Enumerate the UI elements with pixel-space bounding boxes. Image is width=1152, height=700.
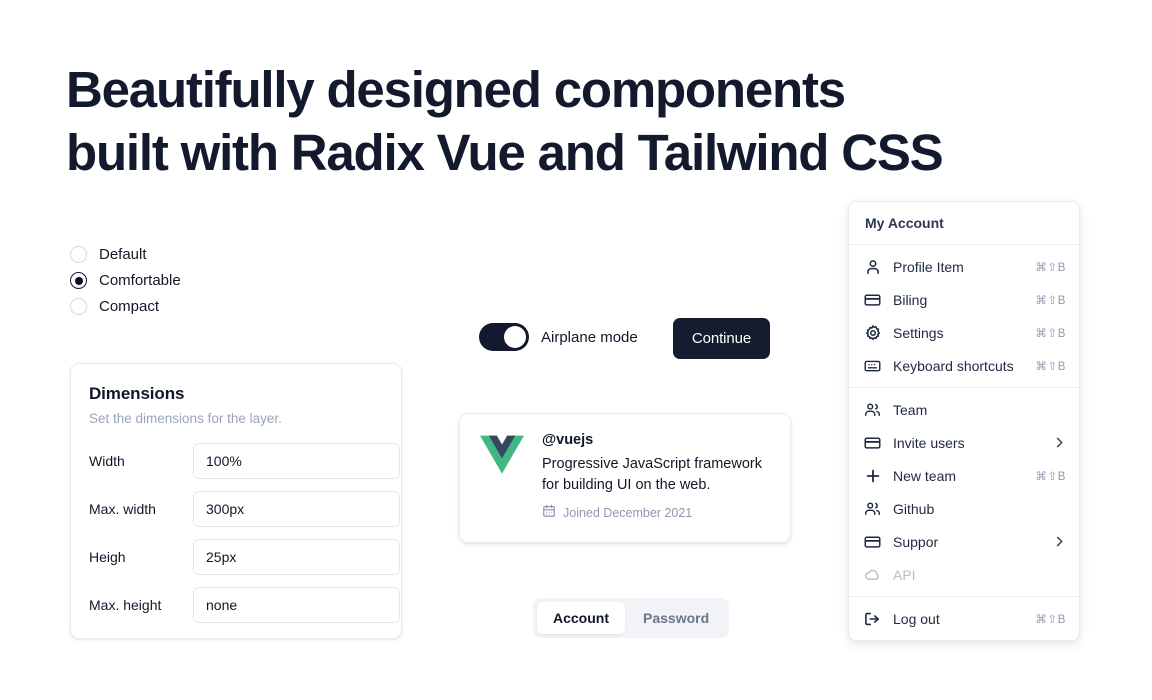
menu-group: TeamInvite usersNew team⌘⇧BGithubSupporA… xyxy=(849,388,1079,596)
dimension-label: Heigh xyxy=(89,549,193,565)
menu-group-list: Profile Item⌘⇧BBiling⌘⇧BSettings⌘⇧BKeybo… xyxy=(849,245,1079,640)
hover-card-body: @vuejs Progressive JavaScript framework … xyxy=(542,432,770,524)
dimension-label: Max. width xyxy=(89,501,193,517)
dimension-row: Max. width xyxy=(89,491,383,527)
radio-label: Default xyxy=(99,246,147,263)
dimensions-card-title: Dimensions xyxy=(89,384,383,404)
plus-icon xyxy=(864,467,881,484)
dimension-label: Width xyxy=(89,453,193,469)
page-root: Beautifully designed components built wi… xyxy=(0,0,1152,700)
airplane-mode-switch[interactable] xyxy=(479,323,529,351)
menu-item-shortcut: ⌘⇧B xyxy=(1035,326,1066,340)
dimension-input-width[interactable] xyxy=(193,443,400,479)
radio-option-compact[interactable]: Compact xyxy=(70,298,181,315)
vuejs-hover-card: @vuejs Progressive JavaScript framework … xyxy=(459,413,791,543)
menu-label: My Account xyxy=(849,202,1079,244)
menu-item-github[interactable]: Github xyxy=(849,492,1079,525)
radio-label: Comfortable xyxy=(99,272,181,289)
density-radio-group[interactable]: DefaultComfortableCompact xyxy=(70,246,181,315)
menu-item-label: Log out xyxy=(893,611,1023,627)
menu-item-label: Suppor xyxy=(893,534,1041,550)
dimensions-card-subtitle: Set the dimensions for the layer. xyxy=(89,411,383,426)
menu-item-suppor[interactable]: Suppor xyxy=(849,525,1079,558)
chevron-right-icon xyxy=(1053,436,1066,449)
menu-item-label: Github xyxy=(893,501,1066,517)
radio-indicator[interactable] xyxy=(70,298,87,315)
menu-item-label: Biling xyxy=(893,292,1023,308)
menu-item-label: Settings xyxy=(893,325,1023,341)
cloud-icon xyxy=(864,566,881,583)
log-out-icon xyxy=(864,610,881,627)
settings-tabs[interactable]: AccountPassword xyxy=(533,598,729,638)
users-icon xyxy=(864,500,881,517)
airplane-mode-label: Airplane mode xyxy=(541,329,638,346)
radio-option-comfortable[interactable]: Comfortable xyxy=(70,272,181,289)
menu-item-settings[interactable]: Settings⌘⇧B xyxy=(849,316,1079,349)
hover-card-description: Progressive JavaScript framework for bui… xyxy=(542,454,770,496)
dimension-input-max-width[interactable] xyxy=(193,491,400,527)
radio-label: Compact xyxy=(99,298,159,315)
hover-card-joined: Joined December 2021 xyxy=(542,504,770,521)
radio-indicator[interactable] xyxy=(70,272,87,289)
page-title: Beautifully designed components built wi… xyxy=(66,58,1016,184)
menu-item-label: API xyxy=(893,567,1066,583)
menu-item-profile-item[interactable]: Profile Item⌘⇧B xyxy=(849,250,1079,283)
menu-item-shortcut: ⌘⇧B xyxy=(1035,469,1066,483)
dimensions-field-list: WidthMax. widthHeighMax. height xyxy=(89,443,383,623)
chevron-right-icon xyxy=(1053,535,1066,548)
menu-item-shortcut: ⌘⇧B xyxy=(1035,260,1066,274)
tab-password[interactable]: Password xyxy=(627,602,725,634)
dimension-row: Width xyxy=(89,443,383,479)
menu-item-label: Keyboard shortcuts xyxy=(893,358,1023,374)
credit-card-icon xyxy=(864,434,881,451)
dimension-input-heigh[interactable] xyxy=(193,539,400,575)
gear-icon xyxy=(864,324,881,341)
credit-card-icon xyxy=(864,533,881,550)
keyboard-icon xyxy=(864,357,881,374)
menu-item-label: Team xyxy=(893,402,1066,418)
menu-item-team[interactable]: Team xyxy=(849,393,1079,426)
joined-date-text: Joined December 2021 xyxy=(563,506,692,520)
menu-item-shortcut: ⌘⇧B xyxy=(1035,293,1066,307)
dimension-input-max-height[interactable] xyxy=(193,587,400,623)
calendar-icon xyxy=(542,504,556,521)
radio-indicator[interactable] xyxy=(70,246,87,263)
menu-item-api: API xyxy=(849,558,1079,591)
menu-item-invite-users[interactable]: Invite users xyxy=(849,426,1079,459)
menu-group: Log out⌘⇧B xyxy=(849,597,1079,640)
page-title-line-2: built with Radix Vue and Tailwind CSS xyxy=(66,121,1016,184)
tab-account[interactable]: Account xyxy=(537,602,625,634)
user-icon xyxy=(864,258,881,275)
dimension-label: Max. height xyxy=(89,597,193,613)
menu-item-log-out[interactable]: Log out⌘⇧B xyxy=(849,602,1079,635)
page-title-line-1: Beautifully designed components xyxy=(66,58,1016,121)
menu-item-new-team[interactable]: New team⌘⇧B xyxy=(849,459,1079,492)
menu-item-label: Invite users xyxy=(893,435,1041,451)
vue-logo-icon xyxy=(480,434,524,474)
airplane-mode-control[interactable]: Airplane mode xyxy=(479,323,638,351)
switch-knob xyxy=(504,326,526,348)
menu-item-label: New team xyxy=(893,468,1023,484)
menu-item-label: Profile Item xyxy=(893,259,1023,275)
continue-button[interactable]: Continue xyxy=(673,318,770,359)
hover-card-handle: @vuejs xyxy=(542,432,770,448)
menu-item-biling[interactable]: Biling⌘⇧B xyxy=(849,283,1079,316)
menu-group: Profile Item⌘⇧BBiling⌘⇧BSettings⌘⇧BKeybo… xyxy=(849,245,1079,387)
account-dropdown-menu[interactable]: My Account Profile Item⌘⇧BBiling⌘⇧BSetti… xyxy=(848,201,1080,641)
dimensions-card: Dimensions Set the dimensions for the la… xyxy=(70,363,402,639)
menu-item-shortcut: ⌘⇧B xyxy=(1035,612,1066,626)
menu-item-keyboard-shortcuts[interactable]: Keyboard shortcuts⌘⇧B xyxy=(849,349,1079,382)
users-icon xyxy=(864,401,881,418)
dimension-row: Heigh xyxy=(89,539,383,575)
radio-option-default[interactable]: Default xyxy=(70,246,181,263)
menu-item-shortcut: ⌘⇧B xyxy=(1035,359,1066,373)
dimension-row: Max. height xyxy=(89,587,383,623)
credit-card-icon xyxy=(864,291,881,308)
